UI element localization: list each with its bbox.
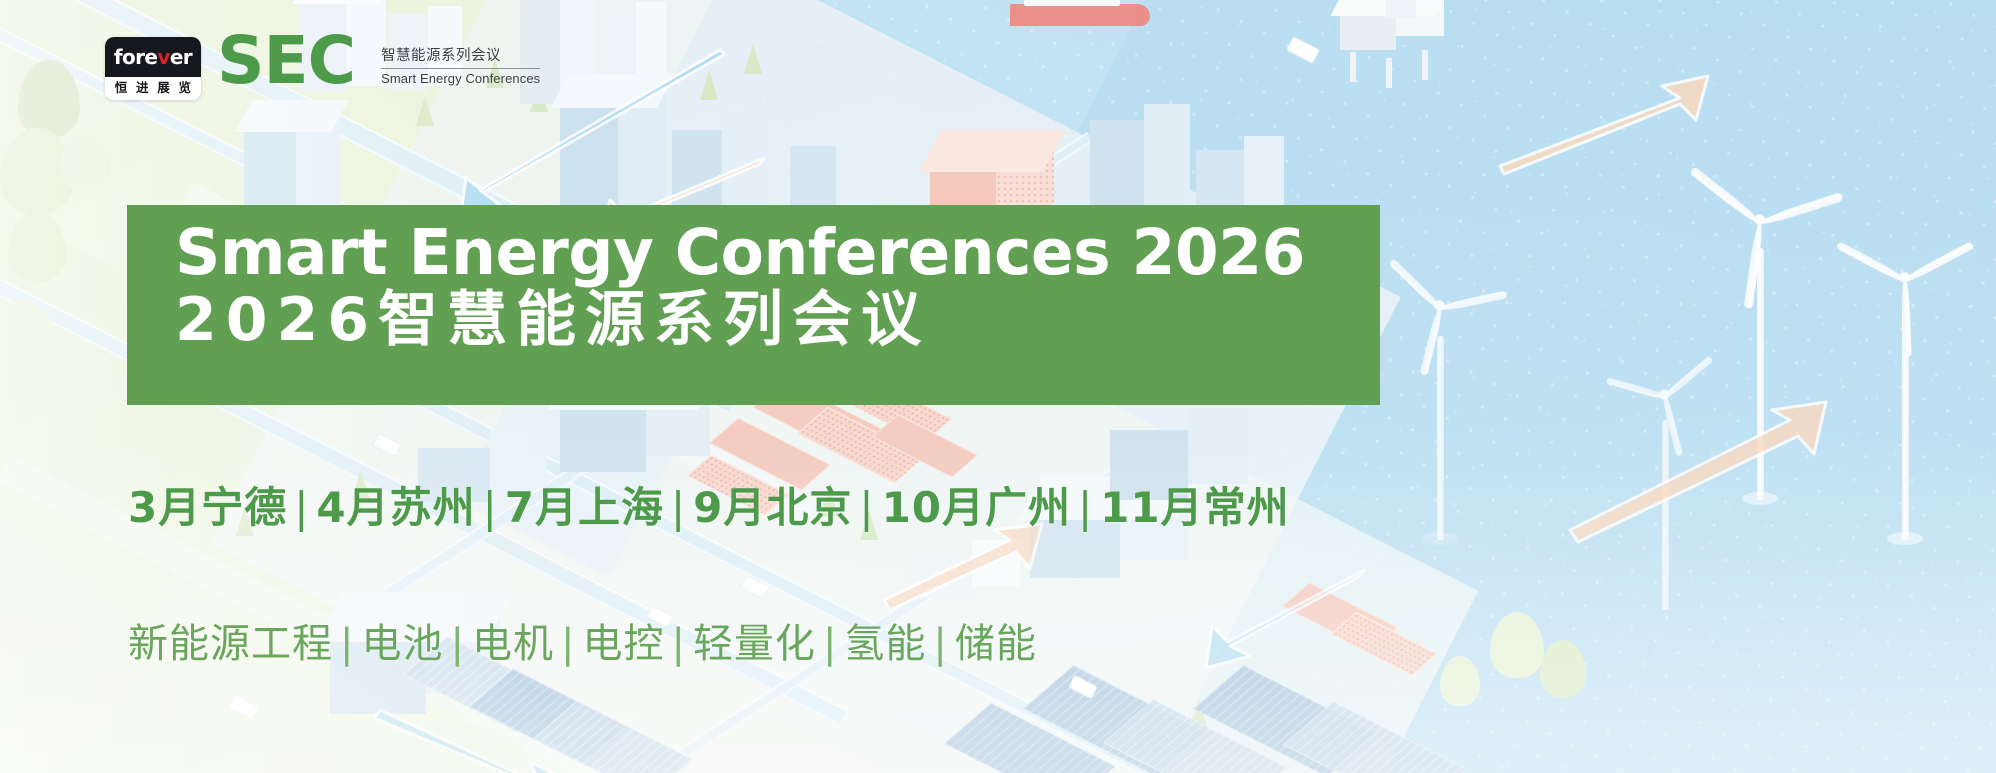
- list-separator: |: [664, 621, 692, 667]
- topic-item: 电控: [582, 621, 664, 667]
- title-chinese: 2026智慧能源系列会议: [175, 287, 1380, 354]
- list-separator: |: [476, 483, 505, 532]
- banner-content: forever 恒 进 展 览 SEC 智慧能源系列会议 Smart Energ…: [0, 0, 1996, 773]
- logo-wordmark: forever: [114, 47, 192, 67]
- topic-item: 氢能: [844, 621, 926, 667]
- brand-lockup[interactable]: forever 恒 进 展 览 SEC 智慧能源系列会议 Smart Energ…: [105, 37, 540, 100]
- list-separator: |: [443, 621, 471, 667]
- topic-item: 电池: [361, 621, 443, 667]
- logo-badge-bottom: 恒 进 展 览: [105, 77, 201, 100]
- banner-root: forever 恒 进 展 览 SEC 智慧能源系列会议 Smart Energ…: [0, 0, 1996, 773]
- city-schedule-item: 9月北京: [693, 483, 852, 532]
- city-schedule-item: 11月常州: [1100, 483, 1289, 532]
- list-separator: |: [852, 483, 881, 532]
- tagline-divider: [381, 68, 540, 69]
- city-schedule-item: 4月苏州: [316, 483, 475, 532]
- logo-chinese-name: 恒 进 展 览: [113, 82, 193, 95]
- list-separator: |: [926, 621, 954, 667]
- list-separator: |: [554, 621, 582, 667]
- city-schedule-item: 7月上海: [505, 483, 664, 532]
- city-schedule-list: 3月宁德|4月苏州|7月上海|9月北京|10月广州|11月常州: [128, 483, 1290, 533]
- topic-list: 新能源工程|电池|电机|电控|轻量化|氢能|储能: [128, 620, 1037, 668]
- list-separator: |: [287, 483, 316, 532]
- logo-wordmark-pre: fore: [114, 45, 157, 69]
- logo-wordmark-v: v: [157, 45, 169, 69]
- forever-logo-badge[interactable]: forever 恒 进 展 览: [105, 37, 201, 100]
- logo-wordmark-post: er: [170, 45, 192, 69]
- topic-item: 新能源工程: [128, 621, 333, 667]
- list-separator: |: [664, 483, 693, 532]
- list-separator: |: [333, 621, 361, 667]
- topic-item: 储能: [955, 621, 1037, 667]
- topic-item: 电机: [472, 621, 554, 667]
- brand-tagline: 智慧能源系列会议 Smart Energy Conferences: [381, 47, 540, 87]
- title-english: Smart Energy Conferences 2026: [175, 221, 1380, 285]
- logo-badge-top: forever: [105, 37, 201, 77]
- list-separator: |: [1071, 483, 1100, 532]
- city-schedule-item: 3月宁德: [128, 483, 287, 532]
- tagline-chinese: 智慧能源系列会议: [381, 47, 501, 65]
- tagline-english: Smart Energy Conferences: [381, 71, 540, 87]
- title-plate: Smart Energy Conferences 2026 2026智慧能源系列…: [127, 205, 1380, 405]
- city-schedule-item: 10月广州: [882, 483, 1071, 532]
- list-separator: |: [816, 621, 844, 667]
- topic-item: 轻量化: [693, 621, 816, 667]
- sec-acronym: SEC: [217, 33, 355, 90]
